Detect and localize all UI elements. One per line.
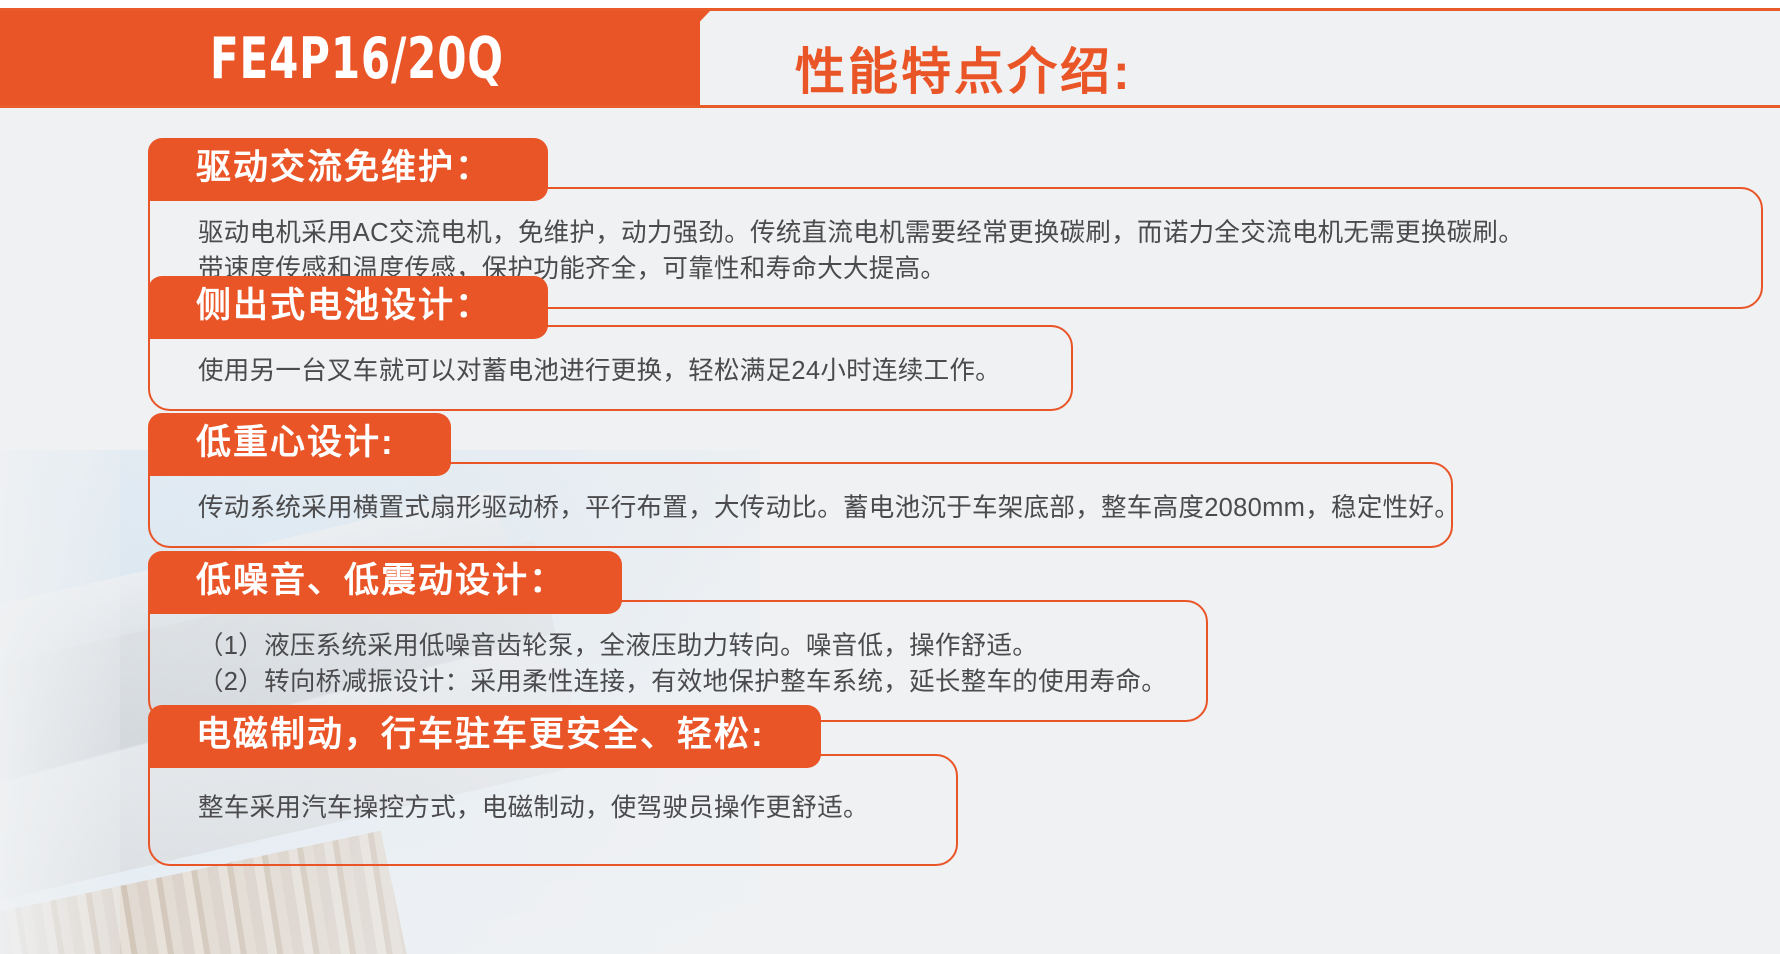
- feature-section: 低重心设计: 传动系统采用横置式扇形驱动桥，平行布置，大传动比。蓄电池沉于车架底…: [148, 413, 1453, 548]
- section-body: （1）液压系统采用低噪音齿轮泵，全液压助力转向。噪音低，操作舒适。 （2）转向桥…: [148, 600, 1208, 722]
- section-heading: 低噪音、低震动设计：: [148, 551, 622, 614]
- page-header: FE4P16/20Q 性能特点介绍:: [0, 8, 1780, 108]
- top-white-strip: [0, 0, 1780, 8]
- section-heading: 低重心设计:: [148, 413, 451, 476]
- section-line: 驱动电机采用AC交流电机，免维护，动力强劲。传统直流电机需要经常更换碳刷，而诺力…: [198, 215, 1731, 251]
- section-line: （1）液压系统采用低噪音齿轮泵，全液压助力转向。噪音低，操作舒适。: [198, 628, 1176, 664]
- section-line: （2）转向桥减振设计：采用柔性连接，有效地保护整车系统，延长整车的使用寿命。: [198, 664, 1176, 700]
- page-title: 性能特点介绍:: [795, 32, 1133, 104]
- feature-list: 驱动交流免维护： 驱动电机采用AC交流电机，免维护，动力强劲。传统直流电机需要经…: [0, 108, 1780, 954]
- model-number: FE4P16/20Q: [210, 26, 504, 92]
- section-line: 整车采用汽车操控方式，电磁制动，使驾驶员操作更舒适。: [198, 790, 926, 826]
- feature-section: 电磁制动，行车驻车更安全、轻松: 整车采用汽车操控方式，电磁制动，使驾驶员操作更…: [148, 705, 958, 866]
- section-line: 传动系统采用横置式扇形驱动桥，平行布置，大传动比。蓄电池沉于车架底部，整车高度2…: [198, 490, 1421, 526]
- feature-section: 低噪音、低震动设计： （1）液压系统采用低噪音齿轮泵，全液压助力转向。噪音低，操…: [148, 551, 1208, 722]
- section-heading: 电磁制动，行车驻车更安全、轻松:: [148, 705, 821, 768]
- section-heading: 驱动交流免维护：: [148, 138, 548, 201]
- section-body: 整车采用汽车操控方式，电磁制动，使驾驶员操作更舒适。: [148, 754, 958, 866]
- section-line: 使用另一台叉车就可以对蓄电池进行更换，轻松满足24小时连续工作。: [198, 353, 1041, 389]
- section-heading: 侧出式电池设计：: [148, 276, 548, 339]
- model-band-slant: [620, 11, 710, 105]
